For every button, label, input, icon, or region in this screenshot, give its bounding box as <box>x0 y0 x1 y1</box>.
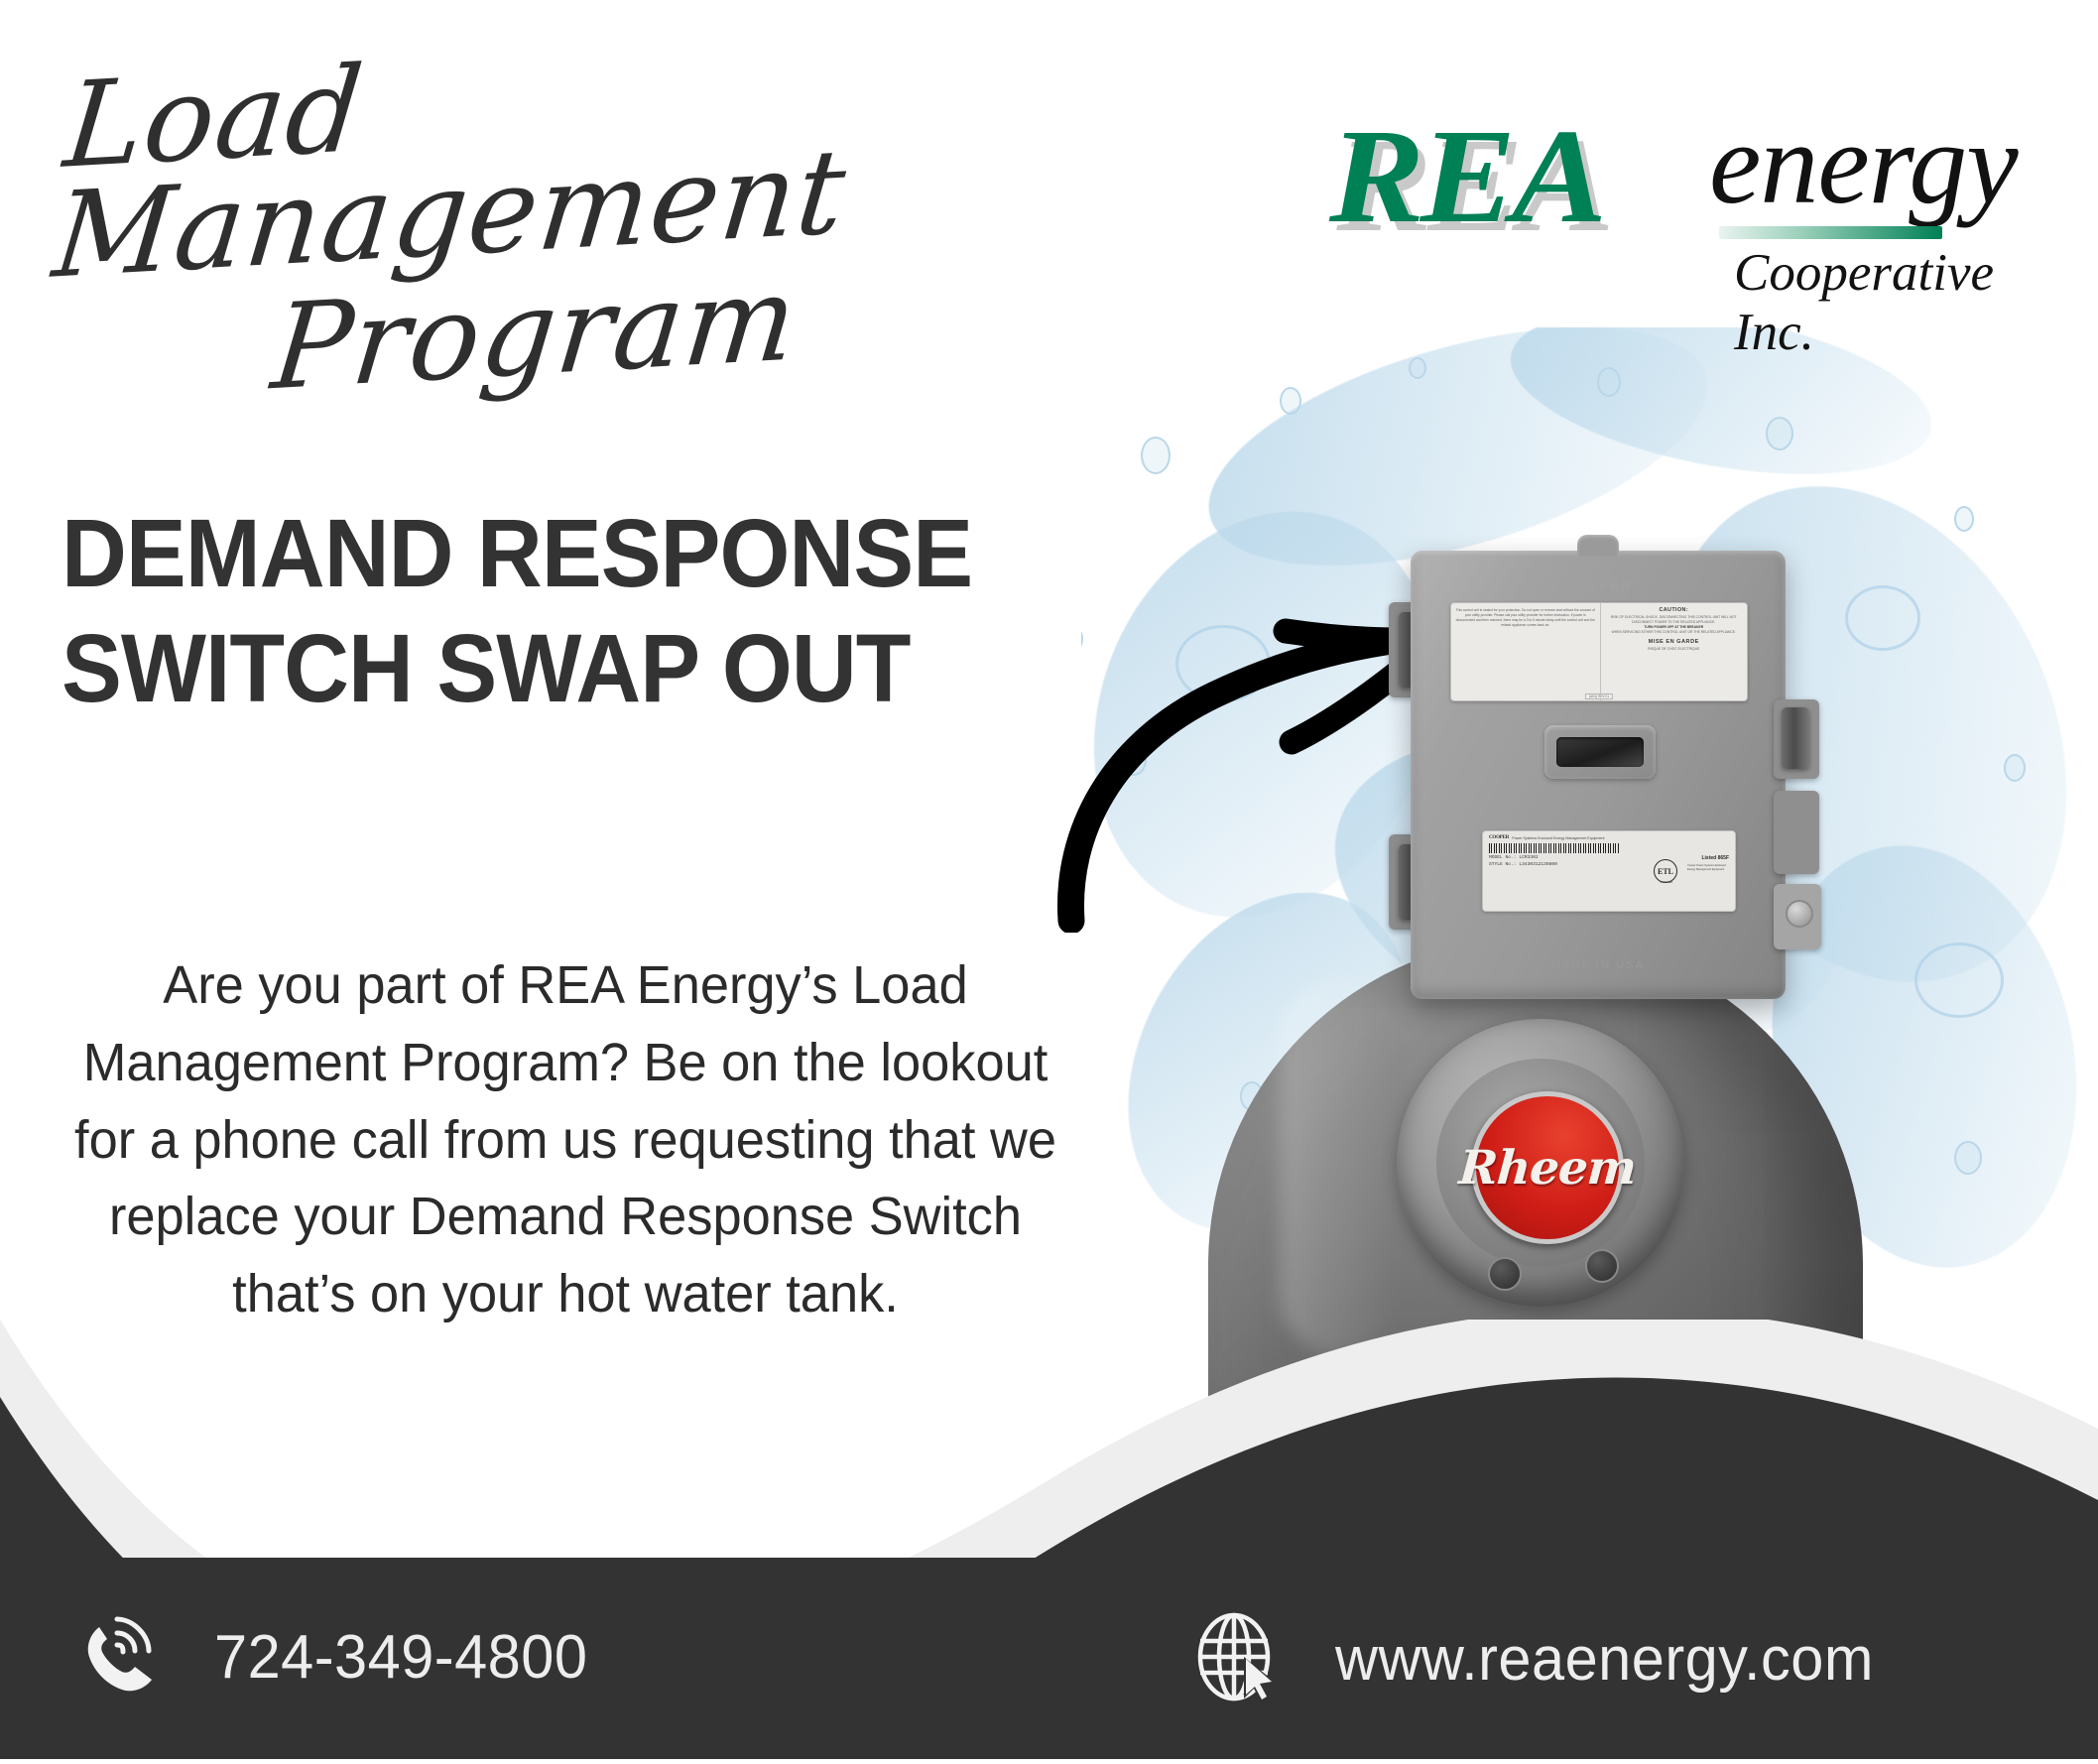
rea-energy-logo: REA energy Cooperative Inc. <box>1324 94 2078 308</box>
caution-label-revision-code: (AH1) REV 01 <box>1585 693 1613 699</box>
script-title-line-2: Program <box>268 250 1056 403</box>
logo-cooperative-text: Cooperative Inc. <box>1734 243 2078 362</box>
footer-website-block[interactable]: www.reaenergy.com <box>1188 1607 1897 1711</box>
switch-embossed-brand: COOPER <box>1411 578 1786 592</box>
hub-screw-left <box>1488 1257 1522 1291</box>
made-in-usa-text: MADE IN USA <box>1411 959 1786 971</box>
spec-label-header: COOPER Power Systems Enclosed Energy Man… <box>1489 835 1729 840</box>
caution-label-left-column: This control unit is sealed for your pro… <box>1451 603 1601 700</box>
phone-ringing-icon <box>71 1607 167 1707</box>
globe-cursor-icon <box>1188 1607 1288 1711</box>
body-paragraph: Are you part of REA Energy’s Load Manage… <box>56 947 1075 1333</box>
page-headline: DEMAND RESPONSE SWITCH SWAP OUT <box>62 496 1049 727</box>
switch-latch-screw <box>1786 900 1813 928</box>
spec-brand: COOPER <box>1489 835 1509 840</box>
switch-window-glass <box>1556 737 1644 767</box>
tank-highlight <box>1280 977 1399 1354</box>
script-title-line-1: Load Management <box>50 16 1062 291</box>
footer-phone-block[interactable]: 724-349-4800 <box>71 1607 603 1707</box>
caution-left-paragraph: This control unit is sealed for your pro… <box>1455 608 1596 628</box>
headline-line-1: DEMAND RESPONSE <box>62 496 1049 611</box>
switch-spec-label: COOPER Power Systems Enclosed Energy Man… <box>1482 830 1736 912</box>
etl-mark-sub: INTERTEK <box>1650 881 1683 884</box>
spec-listed-sub: Cooper Power Systems Enclosed Energy Man… <box>1687 864 1731 872</box>
caution-right-paragraph-2: WHEN SERVICING EITHER THIS CONTROL UNIT … <box>1604 630 1745 635</box>
caution-french-heading: MISE EN GARDE <box>1604 639 1745 645</box>
switch-caution-label: This control unit is sealed for your pro… <box>1450 602 1748 701</box>
demand-response-switch-box: COOPER This control unit is sealed for y… <box>1411 551 1786 999</box>
spec-barcode <box>1489 843 1620 853</box>
switch-inspection-window <box>1544 725 1656 779</box>
caution-french-sub: RISQUE DE CHOC ELECTRIQUE <box>1604 647 1745 651</box>
footer-bar: 724-349-4800 www.reaenergy.com <box>0 1558 2098 1759</box>
caution-heading: CAUTION: <box>1604 607 1745 613</box>
switch-hinge-plate-mid-right <box>1774 791 1819 874</box>
caution-label-right-column: CAUTION: RISK OF ELECTRICAL SHOCK. DISCO… <box>1601 603 1748 700</box>
logo-rea-wordmark: REA <box>1329 99 1603 254</box>
footer-phone-number: 724-349-4800 <box>214 1622 587 1693</box>
script-title: Load Management Program <box>60 45 1051 381</box>
footer-website-url: www.reaenergy.com <box>1335 1624 1874 1695</box>
logo-green-bar <box>1719 226 1942 239</box>
logo-energy-wordmark: energy <box>1709 96 2018 231</box>
spec-model-number: MODEL No.: LCR3302 <box>1489 855 1729 862</box>
headline-line-2: SWITCH SWAP OUT <box>62 611 1049 726</box>
switch-mount-tab <box>1577 535 1619 557</box>
spec-listed: Listed 865F <box>1701 855 1729 861</box>
hub-screw-right <box>1585 1249 1619 1283</box>
spec-description: Power Systems Enclosed Energy Management… <box>1512 836 1604 840</box>
caution-right-paragraph-1: RISK OF ELECTRICAL SHOCK. DISCONNECTING … <box>1604 615 1745 625</box>
rheem-badge-label: Rheem <box>1457 1141 1638 1196</box>
demand-response-switch-on-water-tank: Rheem thon® COOPER This control unit is … <box>1190 551 1944 1424</box>
rheem-badge: Rheem <box>1471 1091 1624 1244</box>
switch-hinge-top-right <box>1782 707 1809 769</box>
etl-mark-icon: ETL <box>1654 859 1677 883</box>
